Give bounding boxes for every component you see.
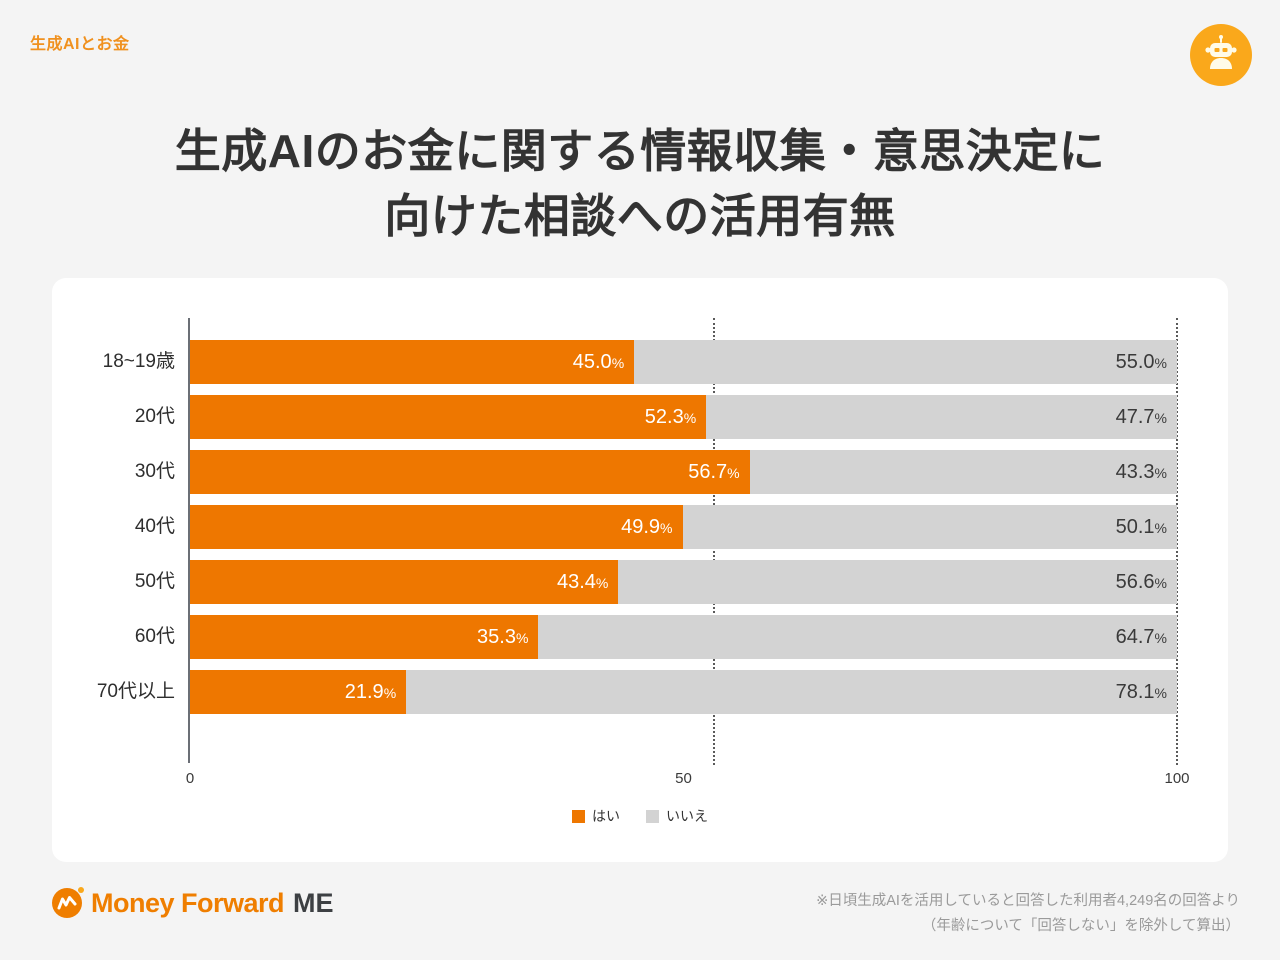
- bar-value-yes: 45.0%: [573, 352, 624, 372]
- bar-rows: 18~19歳45.0%55.0%20代52.3%47.7%30代56.7%43.…: [52, 340, 1228, 725]
- bar-value-yes: 21.9%: [345, 682, 396, 702]
- x-tick-label: 50: [675, 770, 692, 787]
- logo-wordmark: Money Forward: [91, 890, 284, 917]
- bar-row: 50代43.4%56.6%: [52, 560, 1228, 615]
- x-axis-ticks: 050100: [52, 770, 1228, 794]
- eyebrow-label: 生成AIとお金: [30, 30, 130, 54]
- bar-segment-no: 56.6%: [618, 560, 1177, 604]
- category-label: 50代: [135, 560, 175, 604]
- chart-plot-area: 18~19歳45.0%55.0%20代52.3%47.7%30代56.7%43.…: [52, 278, 1228, 862]
- stacked-bar: 56.7%43.3%: [190, 450, 1177, 494]
- robot-badge: [1190, 24, 1252, 86]
- category-label: 20代: [135, 395, 175, 439]
- bar-row: 20代52.3%47.7%: [52, 395, 1228, 450]
- legend-label: はい: [592, 806, 620, 826]
- bar-value-no: 43.3%: [1116, 462, 1167, 482]
- category-label: 60代: [135, 615, 175, 659]
- footnote: ※日頃生成AIを活用していると回答した利用者4,249名の回答より （年齢につい…: [816, 889, 1240, 940]
- bar-segment-yes: 52.3%: [190, 395, 706, 439]
- bar-segment-no: 78.1%: [406, 670, 1177, 714]
- bar-segment-no: 64.7%: [538, 615, 1177, 659]
- legend-swatch: [646, 810, 659, 823]
- bar-segment-yes: 49.9%: [190, 505, 683, 549]
- stacked-bar: 49.9%50.1%: [190, 505, 1177, 549]
- category-label: 18~19歳: [103, 340, 175, 384]
- bar-row: 60代35.3%64.7%: [52, 615, 1228, 670]
- robot-icon: [1201, 33, 1241, 78]
- bar-value-yes: 43.4%: [557, 572, 608, 592]
- stacked-bar: 45.0%55.0%: [190, 340, 1177, 384]
- bar-segment-no: 43.3%: [750, 450, 1177, 494]
- bar-value-no: 55.0%: [1116, 352, 1167, 372]
- category-label: 70代以上: [97, 670, 175, 714]
- legend-swatch: [572, 810, 585, 823]
- bar-value-yes: 49.9%: [621, 517, 672, 537]
- legend-label: いいえ: [666, 806, 708, 826]
- bar-value-no: 78.1%: [1116, 682, 1167, 702]
- money-forward-logo: Money Forward ME: [52, 888, 334, 918]
- bar-row: 30代56.7%43.3%: [52, 450, 1228, 505]
- bar-value-no: 64.7%: [1116, 627, 1167, 647]
- bar-segment-yes: 56.7%: [190, 450, 750, 494]
- bar-row: 40代49.9%50.1%: [52, 505, 1228, 560]
- footnote-line2: （年齢について「回答しない」を除外して算出）: [816, 914, 1240, 939]
- logo-me: ME: [293, 890, 334, 917]
- stacked-bar: 52.3%47.7%: [190, 395, 1177, 439]
- bar-segment-no: 55.0%: [634, 340, 1177, 384]
- bar-segment-yes: 21.9%: [190, 670, 406, 714]
- category-label: 30代: [135, 450, 175, 494]
- chart-card: 18~19歳45.0%55.0%20代52.3%47.7%30代56.7%43.…: [52, 278, 1228, 862]
- bar-segment-no: 50.1%: [683, 505, 1177, 549]
- category-label: 40代: [135, 505, 175, 549]
- bar-segment-yes: 35.3%: [190, 615, 538, 659]
- page-title-line1: 生成AIのお金に関する情報収集・意思決定に: [175, 125, 1106, 177]
- bar-row: 70代以上21.9%78.1%: [52, 670, 1228, 725]
- bar-segment-yes: 45.0%: [190, 340, 634, 384]
- page-title-line2: 向けた相談への活用有無: [0, 184, 1280, 249]
- bar-value-no: 47.7%: [1116, 407, 1167, 427]
- bar-value-no: 56.6%: [1116, 572, 1167, 592]
- stacked-bar: 43.4%56.6%: [190, 560, 1177, 604]
- footnote-line1: ※日頃生成AIを活用していると回答した利用者4,249名の回答より: [816, 893, 1240, 909]
- stacked-bar: 35.3%64.7%: [190, 615, 1177, 659]
- bar-segment-yes: 43.4%: [190, 560, 618, 604]
- legend-item[interactable]: いいえ: [646, 806, 708, 826]
- legend-item[interactable]: はい: [572, 806, 620, 826]
- top-bar: 生成AIとお金: [0, 0, 1280, 95]
- money-forward-mark-icon: [52, 888, 82, 918]
- bar-value-yes: 56.7%: [688, 462, 739, 482]
- bar-segment-no: 47.7%: [706, 395, 1177, 439]
- page-title: 生成AIのお金に関する情報収集・意思決定に 向けた相談への活用有無: [0, 119, 1280, 250]
- bar-value-yes: 35.3%: [477, 627, 528, 647]
- bar-value-yes: 52.3%: [645, 407, 696, 427]
- bar-value-no: 50.1%: [1116, 517, 1167, 537]
- chart-legend: はいいいえ: [52, 806, 1228, 826]
- stacked-bar: 21.9%78.1%: [190, 670, 1177, 714]
- x-tick-label: 100: [1164, 770, 1189, 787]
- x-tick-label: 0: [186, 770, 194, 787]
- bar-row: 18~19歳45.0%55.0%: [52, 340, 1228, 395]
